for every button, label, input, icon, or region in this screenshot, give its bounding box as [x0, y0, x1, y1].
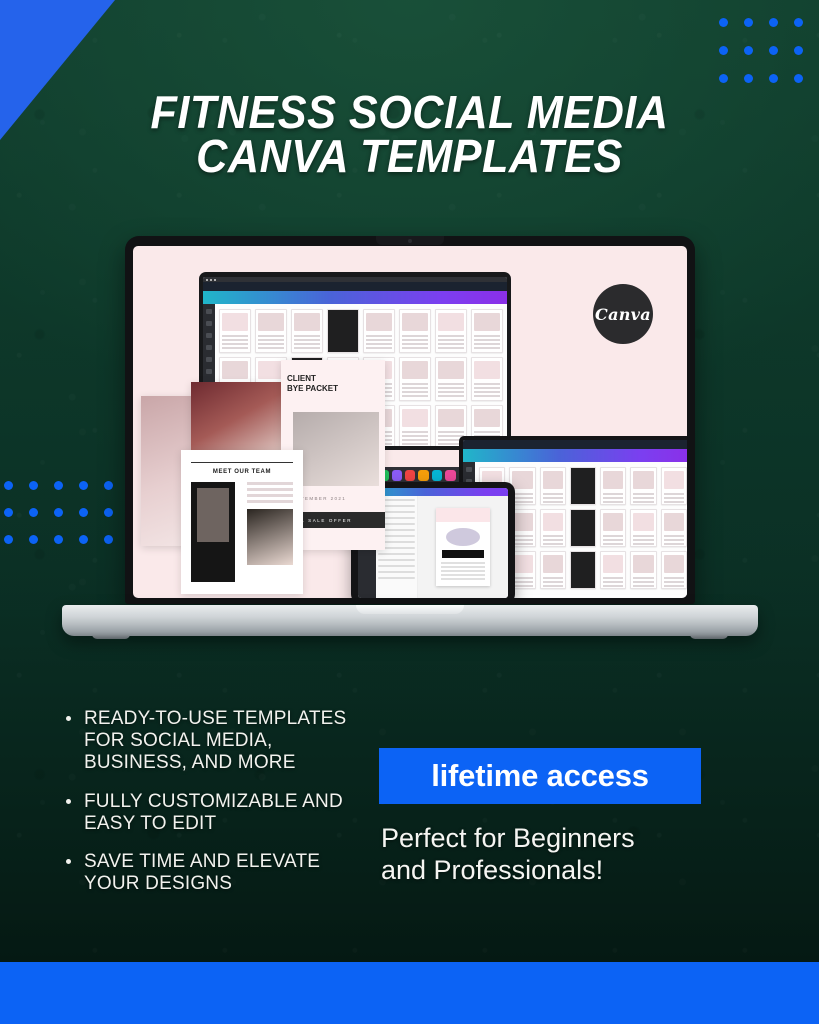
thumbnail-text-line: [664, 585, 684, 587]
template-thumbnail: [570, 467, 596, 505]
thumbnail-image: [474, 409, 500, 427]
thumbnail-image: [664, 471, 684, 489]
panel-row: [378, 553, 415, 555]
thumbnail-text-line: [603, 497, 623, 499]
laptop-lid: Canva: [125, 236, 695, 604]
thumbnail-text-line: [366, 347, 392, 349]
template-thumbnail: [600, 467, 626, 505]
thumbnail-text-line: [438, 383, 464, 385]
thumbnail-text-line: [633, 539, 653, 541]
thumbnail-text-line: [402, 335, 428, 337]
thumbnail-text-line: [474, 343, 500, 345]
thumbnail-text-line: [402, 435, 428, 437]
canva-logo-badge: Canva: [593, 284, 653, 344]
thumbnail-text-line: [633, 577, 653, 579]
thumbnail-text-line: [402, 443, 428, 445]
thumbnail-image: [258, 313, 284, 331]
team-member-bio: [247, 482, 293, 565]
thumbnail-image: [633, 513, 653, 531]
bio-line: [247, 482, 293, 485]
thumbnail-text-line: [222, 347, 248, 349]
dock-app-icon: [432, 470, 442, 481]
decor-dot: [29, 508, 38, 517]
thumbnail-image: [222, 361, 248, 379]
thumbnail-text-line: [366, 335, 392, 337]
template-thumbnail: [291, 309, 323, 353]
thumbnail-text-line: [438, 391, 464, 393]
cta-button-shape: [442, 550, 484, 558]
template-thumbnail: [363, 309, 395, 353]
thumbnail-image: [438, 361, 464, 379]
thumbnail-image: [402, 409, 428, 427]
thumbnail-text-line: [222, 339, 248, 341]
thumbnail-text-line: [512, 581, 532, 583]
thumbnail-text-line: [222, 343, 248, 345]
thumbnail-text-line: [633, 497, 653, 499]
dot-grid-top-right: [711, 8, 811, 92]
thumbnail-text-line: [474, 347, 500, 349]
design-page: [436, 508, 490, 586]
decor-dot: [769, 18, 778, 27]
thumbnail-text-line: [664, 535, 684, 537]
thumbnail-text-line: [543, 497, 563, 499]
thumbnail-text-line: [438, 339, 464, 341]
panel-row: [378, 577, 415, 579]
thumbnail-text-line: [402, 343, 428, 345]
template-card-stack: CLIENTBYE PACKET NOVEMBER 2021 CIAL SALE…: [133, 388, 323, 598]
thumbnail-text-line: [664, 497, 684, 499]
thumbnail-text-line: [294, 347, 320, 349]
team-member-photo-2: [247, 509, 293, 565]
template-thumbnail: [600, 509, 626, 547]
list-item: Save time and elevate your designs: [62, 851, 372, 895]
thumbnail-text-line: [258, 339, 284, 341]
team-card-title: MEET OUR TEAM: [181, 469, 303, 475]
poster-canvas: FITNESS SOCIAL MEDIA CANVA TEMPLATES Can…: [0, 0, 819, 1024]
thumbnail-text-line: [664, 581, 684, 583]
template-thumbnail: [661, 467, 687, 505]
sidebar-icon: [206, 321, 212, 326]
thumbnail-text-line: [366, 343, 392, 345]
thumbnail-text-line: [402, 395, 428, 397]
laptop-mockup: Canva: [62, 236, 758, 636]
thumbnail-image: [543, 555, 563, 573]
template-thumbnail: [630, 509, 656, 547]
thumbnail-text-line: [603, 493, 623, 495]
decor-dot: [769, 46, 778, 55]
decor-dot: [719, 74, 728, 83]
thumbnail-text-line: [438, 431, 464, 433]
template-thumbnail: [435, 309, 467, 353]
browser-tab-bar: [463, 440, 687, 449]
thumbnail-text-line: [603, 585, 623, 587]
sidebar-icon: [206, 369, 212, 374]
thumbnail-text-line: [603, 501, 623, 503]
thumbnail-text-line: [512, 493, 532, 495]
dock-app-icon: [445, 470, 455, 481]
thumbnail-image: [664, 513, 684, 531]
template-thumbnail: [661, 551, 687, 589]
thumbnail-text-line: [512, 543, 532, 545]
thumbnail-text-line: [258, 347, 284, 349]
template-thumbnail: [255, 309, 287, 353]
thumbnail-text-line: [603, 577, 623, 579]
sidebar-icon: [206, 333, 212, 338]
template-card-photo: [191, 382, 287, 452]
page-text-line: [441, 562, 485, 564]
thumbnail-text-line: [633, 535, 653, 537]
thumbnail-image: [512, 471, 532, 489]
decor-dot: [4, 535, 13, 544]
template-thumbnail: [471, 357, 503, 401]
page-image: [446, 528, 480, 546]
thumbnail-text-line: [543, 539, 563, 541]
thumbnail-image: [603, 555, 623, 573]
template-thumbnail: [399, 309, 431, 353]
design-canvas: [418, 496, 508, 598]
thumbnail-image: [474, 313, 500, 331]
template-thumbnail: [570, 509, 596, 547]
thumbnail-text-line: [633, 493, 653, 495]
template-thumbnail: [630, 551, 656, 589]
thumbnail-text-line: [402, 431, 428, 433]
decor-dot: [4, 481, 13, 490]
template-thumbnail: [600, 551, 626, 589]
page-text-line: [441, 570, 485, 572]
template-thumbnail: [327, 309, 359, 353]
thumbnail-text-line: [512, 539, 532, 541]
decor-dot: [794, 46, 803, 55]
thumbnail-image: [543, 513, 563, 531]
bio-line: [247, 500, 293, 503]
thumbnail-text-line: [664, 539, 684, 541]
thumbnail-text-line: [438, 343, 464, 345]
decor-dot: [794, 74, 803, 83]
decor-dot: [744, 18, 753, 27]
thumbnail-text-line: [664, 543, 684, 545]
bio-line: [247, 488, 293, 491]
thumbnail-text-line: [633, 585, 653, 587]
page-text-line: [441, 566, 485, 568]
decor-dot: [29, 481, 38, 490]
decor-dot: [719, 46, 728, 55]
thumbnail-text-line: [543, 585, 563, 587]
team-member-photo: [191, 482, 235, 582]
thumbnail-text-line: [474, 431, 500, 433]
window-dot-icon: [210, 279, 212, 281]
subtext-line-2: and Professionals!: [381, 855, 721, 887]
title-line-1: FITNESS SOCIAL MEDIA: [62, 90, 757, 134]
thumbnail-text-line: [603, 581, 623, 583]
thumbnail-text-line: [543, 501, 563, 503]
thumbnail-image: [402, 361, 428, 379]
thumbnail-image: [512, 513, 532, 531]
laptop-base: [62, 605, 758, 636]
page-title: FITNESS SOCIAL MEDIA CANVA TEMPLATES: [0, 90, 819, 178]
thumbnail-text-line: [543, 543, 563, 545]
thumbnail-text-line: [402, 387, 428, 389]
thumbnail-text-line: [222, 335, 248, 337]
thumbnail-text-line: [438, 395, 464, 397]
thumbnail-text-line: [438, 335, 464, 337]
webcam-notch-icon: [376, 236, 444, 245]
feature-bullet-list: Ready-to-use templates for social media,…: [62, 708, 372, 912]
thumbnail-text-line: [512, 497, 532, 499]
thumbnail-text-line: [543, 493, 563, 495]
thumbnail-image: [603, 471, 623, 489]
thumbnail-text-line: [603, 535, 623, 537]
sidebar-icon: [466, 467, 472, 472]
panel-row: [378, 571, 415, 573]
thumbnail-text-line: [474, 395, 500, 397]
thumbnail-image: [633, 471, 653, 489]
canva-app-header: [463, 449, 687, 462]
decor-dot: [769, 74, 778, 83]
thumbnail-text-line: [512, 577, 532, 579]
list-item: Fully customizable and easy to edit: [62, 791, 372, 835]
lifetime-access-label: lifetime access: [431, 758, 649, 794]
laptop-screen: Canva: [133, 246, 687, 598]
dock-app-icon: [392, 470, 402, 481]
decor-dot: [744, 74, 753, 83]
thumbnail-text-line: [474, 391, 500, 393]
thumbnail-image: [664, 555, 684, 573]
thumbnail-text-line: [402, 391, 428, 393]
thumbnail-text-line: [633, 581, 653, 583]
thumbnail-text-line: [664, 493, 684, 495]
thumbnail-text-line: [402, 383, 428, 385]
thumbnail-text-line: [543, 581, 563, 583]
window-dot-icon: [214, 279, 216, 281]
thumbnail-text-line: [294, 339, 320, 341]
thumbnail-text-line: [474, 383, 500, 385]
thumbnail-text-line: [366, 339, 392, 341]
thumbnail-image: [512, 555, 532, 573]
thumbnail-image: [474, 361, 500, 379]
thumbnail-text-line: [402, 439, 428, 441]
template-thumbnail: [219, 309, 251, 353]
panel-row: [378, 559, 415, 561]
decor-dot: [719, 18, 728, 27]
template-thumbnail: [435, 357, 467, 401]
thumbnail-text-line: [438, 347, 464, 349]
thumbnail-image: [366, 313, 392, 331]
panel-row: [378, 565, 415, 567]
template-thumbnail: [630, 467, 656, 505]
page-text-line: [441, 574, 485, 576]
thumbnail-image: [294, 313, 320, 331]
thumbnail-text-line: [258, 335, 284, 337]
thumbnail-image: [438, 409, 464, 427]
lifetime-access-badge: lifetime access: [379, 748, 701, 804]
decor-dot: [4, 508, 13, 517]
title-line-2: CANVA TEMPLATES: [62, 134, 757, 178]
bottom-accent-bar: [0, 962, 819, 1024]
thumbnail-text-line: [543, 577, 563, 579]
dock-app-icon: [418, 470, 428, 481]
thumbnail-image: [402, 313, 428, 331]
bio-line: [247, 494, 293, 497]
thumbnail-text-line: [543, 535, 563, 537]
thumbnail-text-line: [402, 339, 428, 341]
laptop-foot: [690, 634, 728, 639]
client-card-title: CLIENTBYE PACKET: [287, 374, 338, 394]
thumbnail-text-line: [633, 501, 653, 503]
divider: [191, 462, 293, 463]
template-thumbnail: [661, 509, 687, 547]
sidebar-icon: [206, 357, 212, 362]
thumbnail-image: [438, 313, 464, 331]
decor-dot: [744, 46, 753, 55]
browser-tab-bar: [203, 282, 507, 291]
decor-dot: [29, 535, 38, 544]
list-item: Ready-to-use templates for social media,…: [62, 708, 372, 775]
page-header-band: [436, 508, 490, 522]
client-card-image: [293, 412, 379, 486]
thumbnail-image: [222, 313, 248, 331]
laptop-foot: [92, 634, 130, 639]
thumbnail-text-line: [438, 387, 464, 389]
thumbnail-text-line: [664, 577, 684, 579]
template-thumbnail: [570, 551, 596, 589]
thumbnail-text-line: [512, 501, 532, 503]
dock-app-icon: [405, 470, 415, 481]
thumbnail-text-line: [402, 347, 428, 349]
thumbnail-text-line: [512, 535, 532, 537]
sidebar-icon: [206, 345, 212, 350]
sidebar-icon: [206, 309, 212, 314]
template-thumbnail: [399, 405, 431, 446]
thumbnail-image: [543, 471, 563, 489]
thumbnail-text-line: [633, 543, 653, 545]
thumbnail-text-line: [294, 343, 320, 345]
thumbnail-text-line: [474, 339, 500, 341]
template-thumbnail: [540, 467, 566, 505]
thumbnail-image: [603, 513, 623, 531]
audience-subtext: Perfect for Beginners and Professionals!: [381, 823, 721, 886]
template-thumbnail: [540, 551, 566, 589]
subtext-line-1: Perfect for Beginners: [381, 823, 721, 855]
canva-logo-label: Canva: [595, 305, 651, 324]
thumbnail-text-line: [603, 539, 623, 541]
template-thumbnail: [540, 509, 566, 547]
template-card-team: MEET OUR TEAM: [181, 450, 303, 594]
thumbnail-image: [633, 555, 653, 573]
thumbnail-text-line: [512, 585, 532, 587]
template-thumbnail: [471, 309, 503, 353]
page-text-line: [441, 578, 485, 580]
thumbnail-text-line: [474, 335, 500, 337]
canva-app-header: [203, 291, 507, 304]
device-collage: Canva: [133, 246, 687, 598]
template-thumbnail: [399, 357, 431, 401]
thumbnail-text-line: [294, 335, 320, 337]
thumbnail-text-line: [474, 387, 500, 389]
thumbnail-text-line: [258, 343, 284, 345]
thumbnail-text-line: [664, 501, 684, 503]
window-dot-icon: [206, 279, 208, 281]
decor-dot: [794, 18, 803, 27]
thumbnail-text-line: [603, 543, 623, 545]
